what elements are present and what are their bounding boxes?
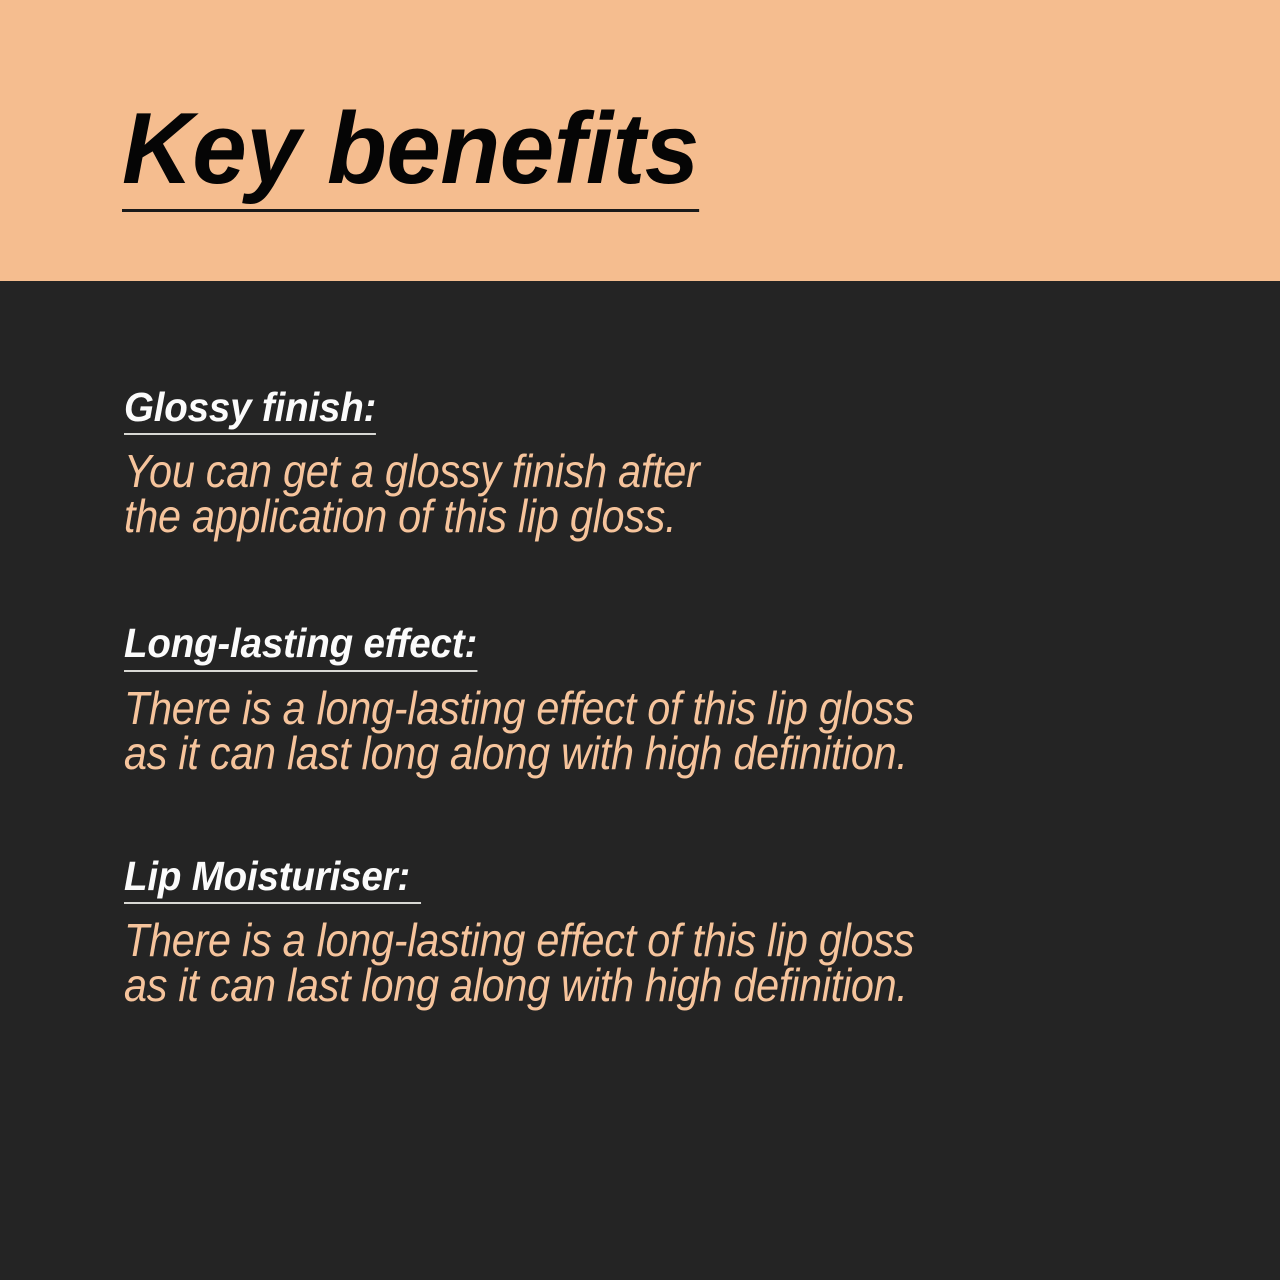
- benefit-heading-lip-moisturiser: Lip Moisturiser:: [124, 854, 421, 904]
- benefit-body-lip-moisturiser: There is a long-lasting effect of this l…: [124, 918, 1056, 1008]
- benefit-item-lip-moisturiser: Lip Moisturiser: There is a long-lasting…: [124, 854, 1160, 1008]
- benefit-body-glossy-finish: You can get a glossy finish after the ap…: [124, 449, 1056, 539]
- benefit-item-glossy-finish: Glossy finish: You can get a glossy fini…: [124, 385, 1160, 539]
- benefit-body-long-lasting-effect: There is a long-lasting effect of this l…: [124, 686, 1056, 776]
- benefit-heading-long-lasting-effect: Long-lasting effect:: [124, 621, 477, 671]
- page-title: Key benefits: [122, 96, 699, 212]
- benefit-heading-glossy-finish: Glossy finish:: [124, 385, 376, 435]
- benefits-list: Glossy finish: You can get a glossy fini…: [0, 281, 1280, 1280]
- header-band: Key benefits: [0, 0, 1280, 281]
- key-benefits-poster: Key benefits Glossy finish: You can get …: [0, 0, 1280, 1280]
- benefit-item-long-lasting-effect: Long-lasting effect: There is a long-las…: [124, 621, 1160, 775]
- page-title-container: Key benefits: [122, 96, 717, 212]
